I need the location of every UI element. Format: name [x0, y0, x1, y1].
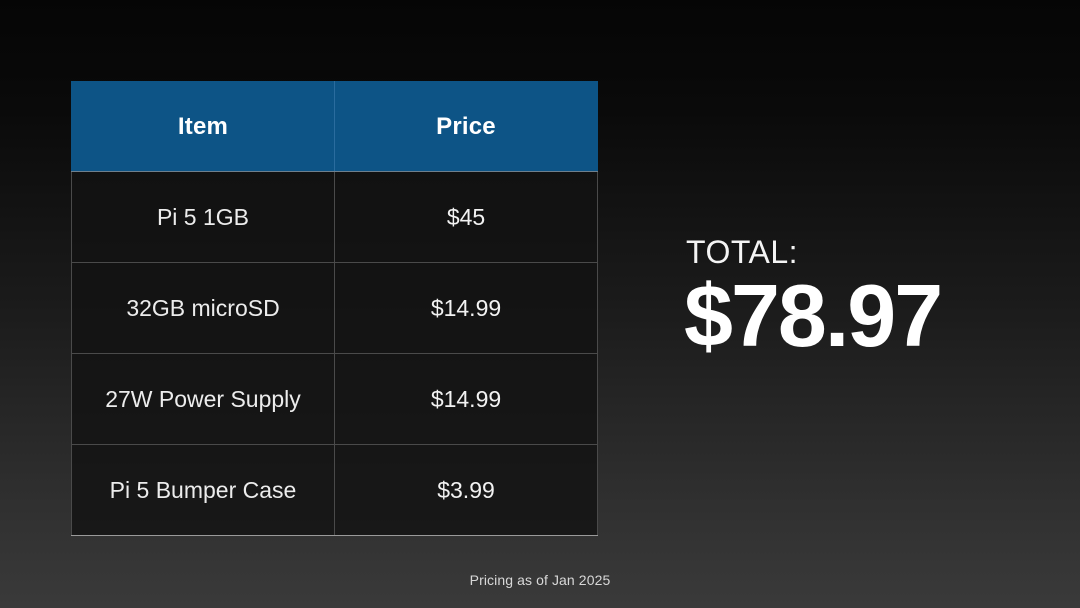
- cell-item-price: $45: [335, 172, 598, 263]
- cell-item-name: 27W Power Supply: [72, 354, 335, 445]
- cell-item-name: Pi 5 1GB: [72, 172, 335, 263]
- table-header-row: Item Price: [72, 82, 598, 172]
- table-header: Item Price: [72, 82, 598, 172]
- table-row: 27W Power Supply $14.99: [72, 354, 598, 445]
- column-header-item: Item: [72, 82, 335, 172]
- column-header-price: Price: [335, 82, 598, 172]
- table-row: 32GB microSD $14.99: [72, 263, 598, 354]
- pricing-footnote: Pricing as of Jan 2025: [0, 572, 1080, 588]
- cell-item-price: $3.99: [335, 445, 598, 536]
- cell-item-name: 32GB microSD: [72, 263, 335, 354]
- table-body: Pi 5 1GB $45 32GB microSD $14.99 27W Pow…: [72, 172, 598, 536]
- slide-canvas: Item Price Pi 5 1GB $45 32GB microSD $14…: [0, 0, 1080, 608]
- total-amount: $78.97: [684, 276, 941, 357]
- table-row: Pi 5 Bumper Case $3.99: [72, 445, 598, 536]
- cell-item-price: $14.99: [335, 263, 598, 354]
- cell-item-name: Pi 5 Bumper Case: [72, 445, 335, 536]
- price-table: Item Price Pi 5 1GB $45 32GB microSD $14…: [71, 81, 598, 536]
- total-label: TOTAL:: [686, 236, 941, 268]
- table-row: Pi 5 1GB $45: [72, 172, 598, 263]
- total-block: TOTAL: $78.97: [684, 236, 941, 357]
- cell-item-price: $14.99: [335, 354, 598, 445]
